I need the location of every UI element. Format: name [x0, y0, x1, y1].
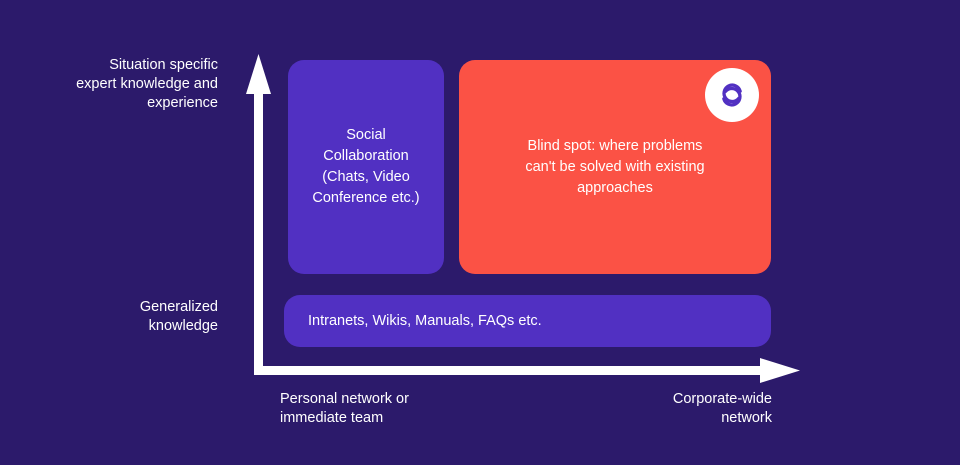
- y-axis-top-label: Situation specific expert knowledge and …: [36, 56, 218, 113]
- y-axis-bottom-label: Generalized knowledge: [36, 298, 218, 336]
- x-axis-left-label: Personal network or immediate team: [280, 390, 510, 428]
- block-social-collaboration-label: Social Collaboration (Chats, Video Confe…: [312, 125, 419, 209]
- block-social-collaboration[interactable]: Social Collaboration (Chats, Video Confe…: [288, 60, 444, 274]
- block-blind-spot-label: Blind spot: where problems can't be solv…: [525, 136, 704, 199]
- quadrant-diagram-canvas: Situation specific expert knowledge and …: [0, 0, 960, 465]
- block-generalized-knowledge-label: Intranets, Wikis, Manuals, FAQs etc.: [308, 311, 542, 332]
- x-axis-right-label: Corporate-wide network: [600, 390, 772, 428]
- x-axis-arrow: [254, 358, 800, 383]
- block-generalized-knowledge[interactable]: Intranets, Wikis, Manuals, FAQs etc.: [284, 295, 771, 347]
- spiral-s-logo-icon: [716, 79, 748, 111]
- y-axis-arrow: [246, 54, 271, 375]
- spiral-s-logo: [705, 68, 759, 122]
